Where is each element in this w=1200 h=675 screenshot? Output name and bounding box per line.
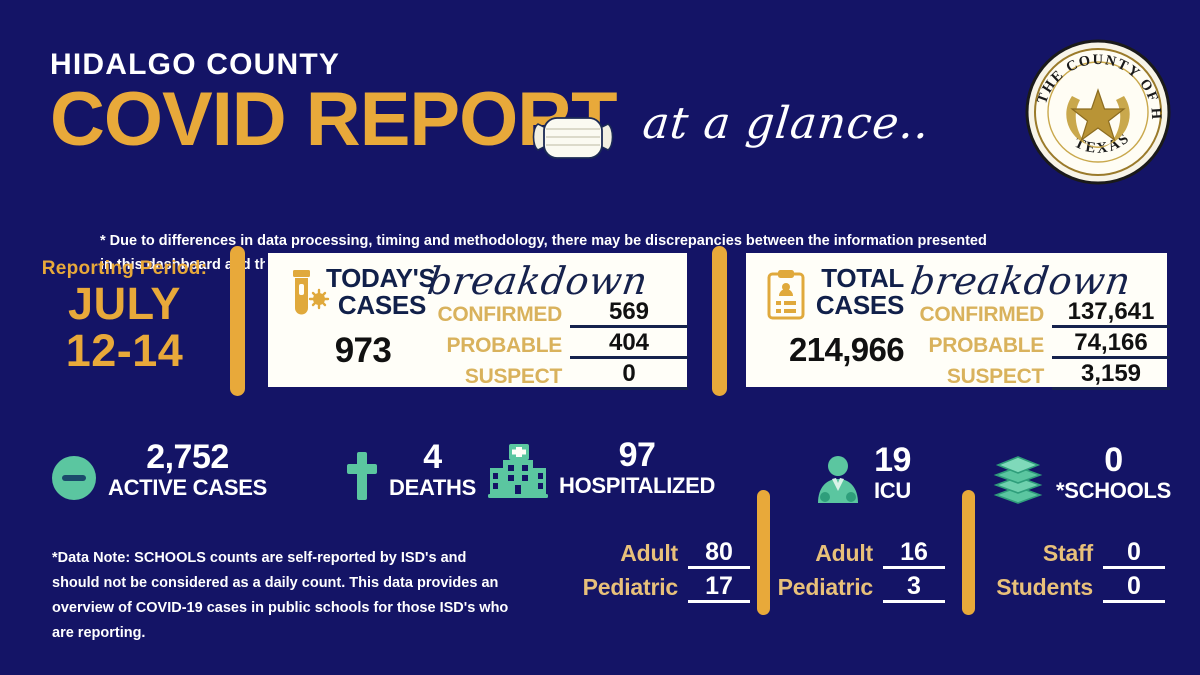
todays-cases-heading: TODAY'S CASES	[326, 265, 426, 318]
cross-icon	[345, 450, 379, 502]
total-cases-panel: TOTAL CASES 214,966 breakdown CONFIRMED …	[743, 250, 1170, 390]
breakdown-row: PROBABLE 74,166	[898, 328, 1170, 359]
sub-value: 3	[883, 573, 945, 603]
divider-bar-today	[230, 246, 245, 396]
reporting-period-month: JULY	[22, 280, 227, 327]
header: HIDALGO COUNTY COVID REPORT at a glance.…	[50, 50, 1010, 157]
stat-active-label: ACTIVE CASES	[108, 474, 267, 502]
stat-schools-value: 0	[1056, 443, 1171, 477]
page-title: COVID REPORT	[50, 84, 617, 157]
sub-label: Pediatric	[583, 576, 678, 603]
sub-row: Staff 0	[985, 535, 1165, 569]
stat-schools-label: *SCHOOLS	[1056, 477, 1171, 505]
county-name: HIDALGO COUNTY	[50, 50, 1010, 80]
stat-icu-value: 19	[874, 443, 911, 477]
title-row: COVID REPORT at a glance..	[50, 84, 1010, 157]
sub-label: Students	[996, 576, 1093, 603]
icu-breakdown: Adult 16 Pediatric 3	[780, 535, 945, 603]
sub-value: 0	[1103, 573, 1165, 603]
breakdown-value: 74,166	[1052, 330, 1170, 359]
stat-deaths: 4 DEATHS	[345, 440, 476, 502]
breakdown-label: CONFIRMED	[920, 304, 1044, 328]
sub-row: Adult 80	[555, 535, 750, 569]
breakdown-value: 0	[570, 361, 688, 390]
divider-bar-icu	[757, 490, 770, 615]
books-stack-icon	[990, 453, 1046, 505]
hospitalized-breakdown: Adult 80 Pediatric 17	[555, 535, 750, 603]
breakdown-label: CONFIRMED	[438, 304, 562, 328]
divider-bar-schools	[962, 490, 975, 615]
reporting-period-days: 12-14	[22, 327, 227, 374]
sub-label: Pediatric	[778, 576, 873, 603]
total-cases-heading: TOTAL CASES	[804, 265, 904, 318]
divider-bar-total	[712, 246, 727, 396]
breakdown-row: PROBABLE 404	[418, 328, 688, 359]
stat-deaths-text: 4 DEATHS	[389, 440, 476, 502]
breakdown-label: PROBABLE	[929, 335, 1044, 359]
sub-row: Pediatric 3	[780, 569, 945, 603]
todays-cases-panel: TODAY'S CASES 973 breakdown CONFIRMED 56…	[265, 250, 690, 390]
stat-deaths-value: 4	[389, 440, 476, 474]
breakdown-value: 3,159	[1052, 361, 1170, 390]
sub-value: 80	[688, 539, 750, 569]
stat-icu: 19 ICU	[812, 443, 911, 505]
sub-value: 16	[883, 539, 945, 569]
breakdown-value: 137,641	[1052, 299, 1170, 328]
schools-breakdown: Staff 0 Students 0	[985, 535, 1165, 603]
stat-hospitalized-value: 97	[559, 438, 715, 472]
minus-circle-icon	[50, 454, 98, 502]
todays-cases-heading-line1: TODAY'S	[326, 265, 426, 292]
stat-hospitalized-text: 97 HOSPITALIZED	[559, 438, 715, 500]
stat-icu-label: ICU	[874, 477, 911, 505]
todays-cases-heading-line2: CASES	[326, 292, 426, 319]
reporting-period-label: Reporting Period:	[22, 258, 227, 280]
test-tube-virus-icon	[286, 268, 330, 322]
stat-icu-text: 19 ICU	[874, 443, 911, 505]
total-cases-heading-line2: CASES	[804, 292, 904, 319]
sub-value: 0	[1103, 539, 1165, 569]
breakdown-row: SUSPECT 3,159	[898, 359, 1170, 390]
breakdown-label: PROBABLE	[447, 335, 562, 359]
breakdown-label: SUSPECT	[947, 366, 1044, 390]
stat-hospitalized: 97 HOSPITALIZED	[487, 438, 715, 500]
stat-schools-text: 0 *SCHOOLS	[1056, 443, 1171, 505]
covid-report-infographic: HIDALGO COUNTY COVID REPORT at a glance.…	[0, 0, 1200, 675]
data-note: *Data Note: SCHOOLS counts are self-repo…	[52, 546, 512, 646]
sub-value: 17	[688, 573, 750, 603]
hidalgo-county-seal: THE COUNTY OF HIDALGO TEXAS	[1024, 38, 1172, 186]
total-breakdown-rows: CONFIRMED 137,641 PROBABLE 74,166 SUSPEC…	[898, 297, 1170, 390]
sub-row: Students 0	[985, 569, 1165, 603]
stat-hospitalized-label: HOSPITALIZED	[559, 472, 715, 500]
reporting-period: Reporting Period: JULY 12-14	[22, 258, 227, 375]
todays-cases-total: 973	[288, 331, 438, 371]
todays-breakdown-rows: CONFIRMED 569 PROBABLE 404 SUSPECT 0	[418, 297, 688, 390]
doctor-icon	[812, 453, 864, 505]
breakdown-row: CONFIRMED 569	[418, 297, 688, 328]
breakdown-value: 404	[570, 330, 688, 359]
sub-row: Adult 16	[780, 535, 945, 569]
sub-label: Adult	[620, 542, 678, 569]
stat-active-text: 2,752 ACTIVE CASES	[108, 440, 267, 502]
hospital-icon	[487, 442, 549, 500]
tagline: at a glance..	[640, 98, 932, 149]
breakdown-label: SUSPECT	[465, 366, 562, 390]
stat-deaths-label: DEATHS	[389, 474, 476, 502]
stat-active-value: 2,752	[108, 440, 267, 474]
clipboard-icon	[764, 268, 808, 322]
total-cases-heading-line1: TOTAL	[804, 265, 904, 292]
stat-schools: 0 *SCHOOLS	[990, 443, 1171, 505]
breakdown-value: 569	[570, 299, 688, 328]
sub-label: Adult	[815, 542, 873, 569]
stat-active-cases: 2,752 ACTIVE CASES	[50, 440, 267, 502]
breakdown-row: CONFIRMED 137,641	[898, 297, 1170, 328]
breakdown-row: SUSPECT 0	[418, 359, 688, 390]
sub-row: Pediatric 17	[555, 569, 750, 603]
sub-label: Staff	[1043, 542, 1093, 569]
